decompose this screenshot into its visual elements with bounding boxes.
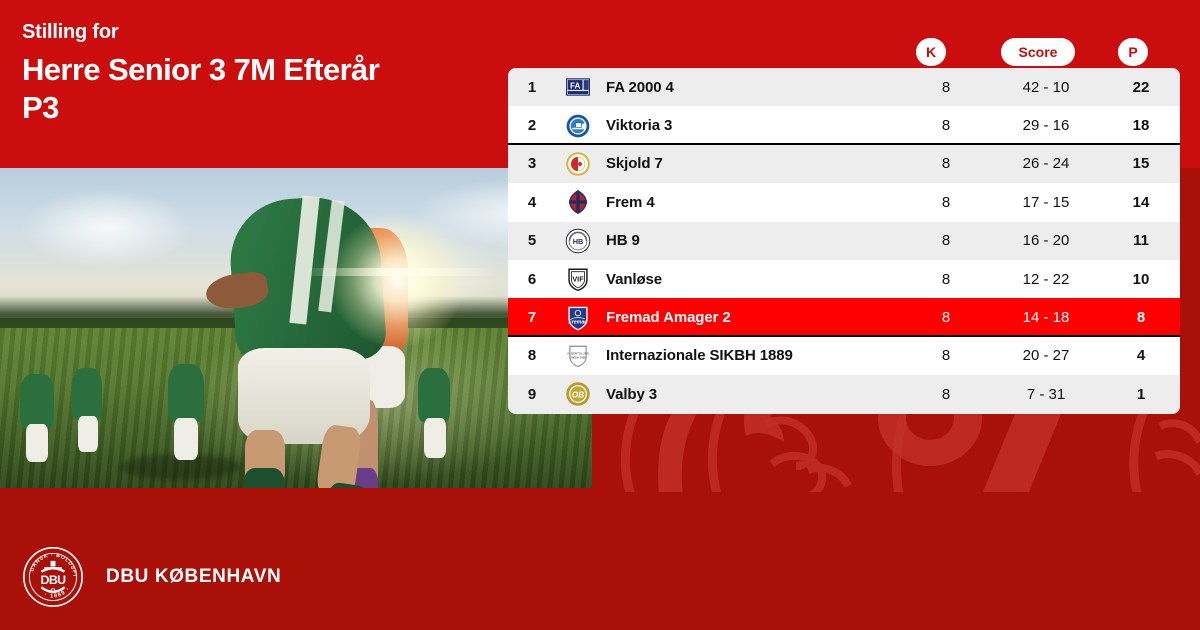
fa2000-crest: FA (556, 74, 600, 100)
table-row[interactable]: 1FAFA 2000 4842 - 1022 (508, 68, 1180, 106)
photo-flare-streak (300, 268, 500, 276)
row-goal-score: 12 - 22 (990, 271, 1102, 288)
photo-player-far (168, 364, 204, 422)
fremad-amager-crest: Fremad (556, 305, 600, 331)
row-points: 1 (1102, 386, 1180, 403)
skjold-crest (556, 151, 600, 177)
row-rank: 5 (508, 232, 556, 249)
svg-text:FA: FA (570, 81, 581, 90)
table-row[interactable]: 6VIFVanløse812 - 2210 (508, 260, 1180, 298)
hero-photo (0, 168, 592, 488)
table-row[interactable]: 2Viktoria 3829 - 1618 (508, 106, 1180, 144)
row-points: 22 (1102, 79, 1180, 96)
row-matches-played: 8 (902, 271, 990, 288)
row-rank: 1 (508, 79, 556, 96)
row-goal-score: 42 - 10 (990, 79, 1102, 96)
table-row[interactable]: 8ALBERTSLUNDSIKBH 1889Internazionale SIK… (508, 337, 1180, 375)
row-team-name: Valby 3 (600, 386, 902, 403)
footer-organisation: DBU KØBENHAVN (106, 566, 281, 588)
column-header-points: P (1118, 38, 1148, 66)
row-points: 8 (1102, 309, 1180, 326)
row-matches-played: 8 (902, 309, 990, 326)
row-rank: 4 (508, 194, 556, 211)
table-row[interactable]: 4Frem 4817 - 1514 (508, 183, 1180, 221)
svg-text:SIKBH 1889: SIKBH 1889 (570, 355, 587, 359)
row-rank: 6 (508, 271, 556, 288)
row-rank: 7 (508, 309, 556, 326)
row-goal-score: 29 - 16 (990, 117, 1102, 134)
row-team-name: Frem 4 (600, 194, 902, 211)
row-team-name: Internazionale SIKBH 1889 (600, 347, 902, 364)
row-matches-played: 8 (902, 117, 990, 134)
frem-crest (556, 189, 600, 215)
photo-player-far-legs (174, 418, 198, 460)
row-team-name: Skjold 7 (600, 155, 902, 172)
photo-player-far (20, 374, 54, 428)
row-points: 10 (1102, 271, 1180, 288)
row-matches-played: 8 (902, 386, 990, 403)
dbu-crest-icon: DANSK · BOLDSPIL · UNION · 1889 · DBU (22, 546, 84, 608)
vanlose-crest: VIF (556, 266, 600, 292)
svg-text:· 1889 ·: · 1889 · (44, 586, 72, 600)
table-row[interactable]: 9OBValby 387 - 311 (508, 375, 1180, 413)
svg-text:Fremad: Fremad (568, 319, 588, 325)
photo-player-far-legs (424, 418, 446, 458)
row-points: 4 (1102, 347, 1180, 364)
row-goal-score: 16 - 20 (990, 232, 1102, 249)
row-rank: 9 (508, 386, 556, 403)
photo-player-sock (243, 468, 285, 488)
standings-graphic: Stilling for Herre Senior 3 7M Efterår P… (0, 0, 1200, 630)
svg-text:VIF: VIF (572, 275, 584, 284)
row-rank: 2 (508, 117, 556, 134)
row-team-name: FA 2000 4 (600, 79, 902, 96)
valby-crest: OB (556, 381, 600, 407)
row-goal-score: 26 - 24 (990, 155, 1102, 172)
headline-kicker: Stilling for (22, 20, 542, 44)
standings-table: 1FAFA 2000 4842 - 10222Viktoria 3829 - 1… (508, 68, 1180, 414)
row-team-name: Vanløse (600, 271, 902, 288)
page-title: Herre Senior 3 7M Efterår P3 (22, 51, 542, 127)
table-row[interactable]: 3Skjold 7826 - 2415 (508, 145, 1180, 183)
row-points: 15 (1102, 155, 1180, 172)
photo-sun-flare (330, 213, 465, 348)
row-points: 18 (1102, 117, 1180, 134)
row-goal-score: 7 - 31 (990, 386, 1102, 403)
table-row[interactable]: 5HBHB 9816 - 2011 (508, 222, 1180, 260)
row-team-name: HB 9 (600, 232, 902, 249)
row-goal-score: 14 - 18 (990, 309, 1102, 326)
row-matches-played: 8 (902, 194, 990, 211)
row-team-name: Fremad Amager 2 (600, 309, 902, 326)
headline-block: Stilling for Herre Senior 3 7M Efterår P… (22, 20, 542, 127)
row-matches-played: 8 (902, 232, 990, 249)
row-matches-played: 8 (902, 347, 990, 364)
row-matches-played: 8 (902, 79, 990, 96)
photo-player-far (72, 368, 102, 420)
column-header-score: Score (1001, 38, 1075, 66)
photo-player-far (418, 368, 450, 422)
photo-player-far-legs (78, 416, 98, 452)
row-points: 11 (1102, 232, 1180, 249)
viktoria-crest (556, 113, 600, 139)
table-row[interactable]: 7FremadFremad Amager 2814 - 188 (508, 298, 1180, 336)
footer: DANSK · BOLDSPIL · UNION · 1889 · DBU DB… (22, 546, 281, 608)
row-goal-score: 20 - 27 (990, 347, 1102, 364)
row-rank: 3 (508, 155, 556, 172)
dbu-watermark (600, 408, 1200, 492)
svg-text:OB: OB (572, 391, 584, 400)
column-header-matches: K (916, 38, 946, 66)
photo-player-far-legs (26, 424, 48, 462)
internazionale-crest: ALBERTSLUNDSIKBH 1889 (556, 343, 600, 369)
row-goal-score: 17 - 15 (990, 194, 1102, 211)
svg-text:DBU: DBU (41, 573, 67, 587)
row-matches-played: 8 (902, 155, 990, 172)
svg-text:HB: HB (573, 237, 584, 246)
hb-crest: HB (556, 228, 600, 254)
row-team-name: Viktoria 3 (600, 117, 902, 134)
row-points: 14 (1102, 194, 1180, 211)
row-rank: 8 (508, 347, 556, 364)
